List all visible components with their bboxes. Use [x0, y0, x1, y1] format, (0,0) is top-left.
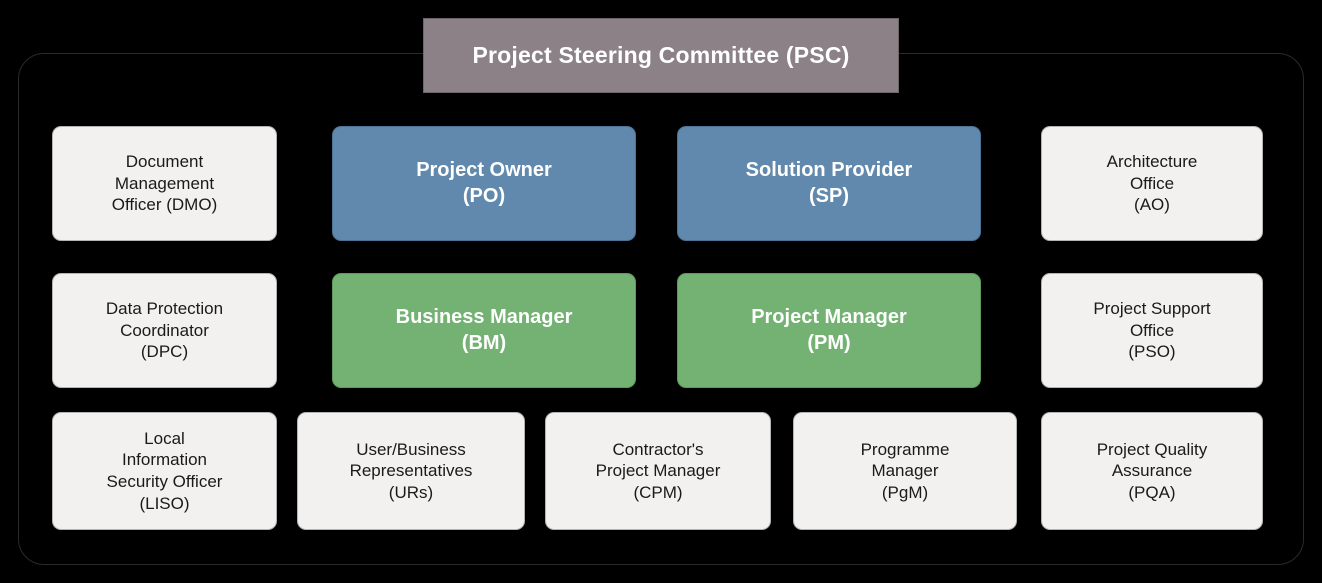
- node-sp-label: Solution Provider (SP): [678, 158, 980, 209]
- node-bm-line-1: Business Manager: [341, 305, 627, 330]
- node-pso-line-2: Office: [1050, 320, 1254, 342]
- node-pso[interactable]: Project Support Office (PSO): [1041, 273, 1263, 388]
- node-sp[interactable]: Solution Provider (SP): [677, 126, 981, 241]
- node-sp-line-1: Solution Provider: [686, 158, 972, 183]
- node-bm[interactable]: Business Manager (BM): [332, 273, 636, 388]
- node-liso-line-4: (LISO): [61, 493, 268, 515]
- node-dmo-line-3: Officer (DMO): [61, 194, 268, 216]
- node-cpm[interactable]: Contractor's Project Manager (CPM): [545, 412, 771, 530]
- node-pm[interactable]: Project Manager (PM): [677, 273, 981, 388]
- node-pso-label: Project Support Office (PSO): [1042, 298, 1262, 363]
- node-pgm-line-1: Programme: [802, 439, 1008, 461]
- node-pm-line-2: (PM): [686, 331, 972, 356]
- node-liso-label: Local Information Security Officer (LISO…: [53, 428, 276, 514]
- node-urs-line-1: User/Business: [306, 439, 516, 461]
- node-pqa-label: Project Quality Assurance (PQA): [1042, 439, 1262, 504]
- node-pqa-line-2: Assurance: [1050, 460, 1254, 482]
- node-cpm-line-2: Project Manager: [554, 460, 762, 482]
- node-cpm-label: Contractor's Project Manager (CPM): [546, 439, 770, 504]
- node-po-line-2: (PO): [341, 184, 627, 209]
- node-liso-line-2: Information: [61, 449, 268, 471]
- node-ao[interactable]: Architecture Office (AO): [1041, 126, 1263, 241]
- node-dmo-label: Document Management Officer (DMO): [53, 151, 276, 216]
- node-pqa-line-1: Project Quality: [1050, 439, 1254, 461]
- node-pso-line-3: (PSO): [1050, 341, 1254, 363]
- node-pgm-line-2: Manager: [802, 460, 1008, 482]
- node-po-line-1: Project Owner: [341, 158, 627, 183]
- node-pgm-label: Programme Manager (PgM): [794, 439, 1016, 504]
- node-dpc-line-3: (DPC): [61, 341, 268, 363]
- node-pm-line-1: Project Manager: [686, 305, 972, 330]
- node-urs-label: User/Business Representatives (URs): [298, 439, 524, 504]
- node-bm-label: Business Manager (BM): [333, 305, 635, 356]
- node-liso[interactable]: Local Information Security Officer (LISO…: [52, 412, 277, 530]
- node-po[interactable]: Project Owner (PO): [332, 126, 636, 241]
- node-liso-line-3: Security Officer: [61, 471, 268, 493]
- node-cpm-line-1: Contractor's: [554, 439, 762, 461]
- node-pgm[interactable]: Programme Manager (PgM): [793, 412, 1017, 530]
- node-psc[interactable]: Project Steering Committee (PSC): [423, 18, 899, 93]
- node-urs-line-3: (URs): [306, 482, 516, 504]
- node-sp-line-2: (SP): [686, 184, 972, 209]
- node-ao-line-2: Office: [1050, 173, 1254, 195]
- node-pqa-line-3: (PQA): [1050, 482, 1254, 504]
- node-ao-label: Architecture Office (AO): [1042, 151, 1262, 216]
- node-dpc[interactable]: Data Protection Coordinator (DPC): [52, 273, 277, 388]
- node-bm-line-2: (BM): [341, 331, 627, 356]
- org-chart-diagram: Project Steering Committee (PSC) Documen…: [0, 0, 1322, 583]
- node-urs[interactable]: User/Business Representatives (URs): [297, 412, 525, 530]
- node-dmo-line-1: Document: [61, 151, 268, 173]
- node-psc-label: Project Steering Committee (PSC): [472, 42, 849, 69]
- node-dpc-line-1: Data Protection: [61, 298, 268, 320]
- node-liso-line-1: Local: [61, 428, 268, 450]
- node-ao-line-3: (AO): [1050, 194, 1254, 216]
- node-pm-label: Project Manager (PM): [678, 305, 980, 356]
- node-pso-line-1: Project Support: [1050, 298, 1254, 320]
- node-dmo[interactable]: Document Management Officer (DMO): [52, 126, 277, 241]
- node-pgm-line-3: (PgM): [802, 482, 1008, 504]
- node-ao-line-1: Architecture: [1050, 151, 1254, 173]
- node-dmo-line-2: Management: [61, 173, 268, 195]
- node-dpc-line-2: Coordinator: [61, 320, 268, 342]
- node-cpm-line-3: (CPM): [554, 482, 762, 504]
- node-pqa[interactable]: Project Quality Assurance (PQA): [1041, 412, 1263, 530]
- node-dpc-label: Data Protection Coordinator (DPC): [53, 298, 276, 363]
- node-po-label: Project Owner (PO): [333, 158, 635, 209]
- node-urs-line-2: Representatives: [306, 460, 516, 482]
